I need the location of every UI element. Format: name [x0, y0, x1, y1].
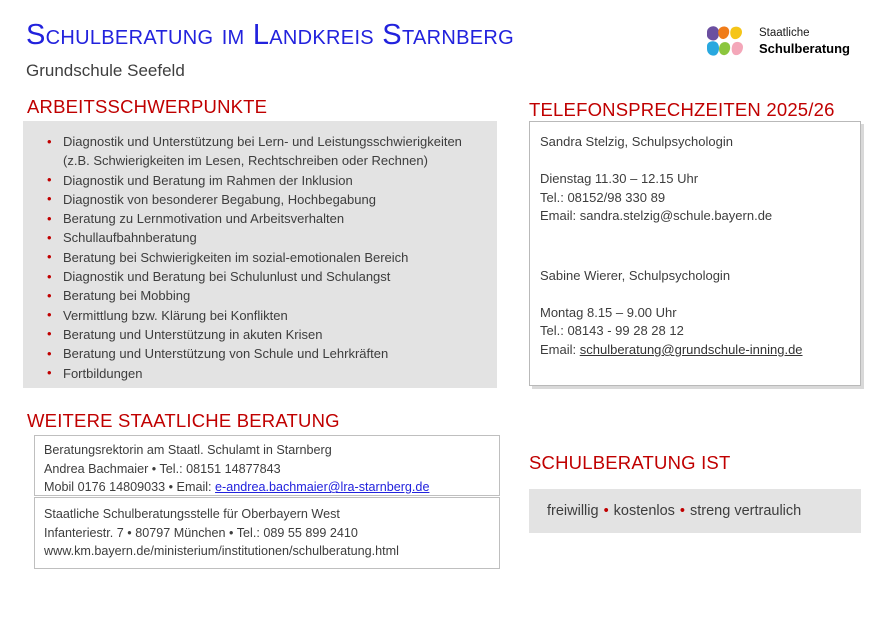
list-item: Beratung und Unterstützung in akuten Kri…: [39, 325, 483, 344]
card-line: Andrea Bachmaier • Tel.: 08151 14877843: [44, 460, 490, 479]
telefonsprechzeiten-panel: Sandra Stelzig, Schulpsychologin Diensta…: [529, 121, 861, 386]
contact-block: Sabine Wierer, Schulpsychologin Montag 8…: [540, 266, 848, 360]
beratungsrektorin-card: Beratungsrektorin am Staatl. Schulamt in…: [34, 435, 500, 496]
section-heading-telefonsprechzeiten: TELEFONSPRECHZEITEN 2025/26: [529, 99, 835, 121]
value-separator-icon: •: [675, 503, 690, 519]
contact-hours: Dienstag 11.30 – 12.15 Uhr: [540, 170, 848, 189]
page-header: Schulberatung im Landkreis Starnberg Gru…: [0, 0, 878, 92]
list-item: Schullaufbahnberatung: [39, 228, 483, 247]
contact-block: Sandra Stelzig, Schulpsychologin Diensta…: [540, 132, 848, 226]
email-label: Email:: [540, 208, 580, 223]
email-link[interactable]: schulberatung@grundschule-inning.de: [580, 342, 803, 357]
list-item: Diagnostik und Unterstützung bei Lern- u…: [39, 132, 483, 171]
email-label: Mobil 0176 14809033 • Email:: [44, 480, 215, 494]
email-value: sandra.stelzig@schule.bayern.de: [580, 208, 772, 223]
list-item: Vermittlung bzw. Klärung bei Konflikten: [39, 306, 483, 325]
contact-name: Sabine Wierer, Schulpsychologin: [540, 266, 848, 286]
value-item: freiwillig: [547, 503, 599, 519]
list-item: Diagnostik von besonderer Begabung, Hoch…: [39, 190, 483, 209]
arbeitsschwerpunkte-list: Diagnostik und Unterstützung bei Lern- u…: [23, 121, 497, 383]
section-heading-weitere-staatliche-beratung: WEITERE STAATLICHE BERATUNG: [27, 410, 340, 432]
value-separator-icon: •: [599, 503, 614, 519]
contact-spacer: [540, 232, 848, 266]
list-item: Beratung zu Lernmotivation und Arbeitsve…: [39, 209, 483, 228]
card-line: Infanteriestr. 7 • 80797 München • Tel.:…: [44, 524, 490, 543]
logo-blobs-icon: [704, 25, 750, 58]
contact-name: Sandra Stelzig, Schulpsychologin: [540, 132, 848, 152]
contact-phone: Tel.: 08143 - 99 28 28 12: [540, 322, 848, 341]
page-title: Schulberatung im Landkreis Starnberg: [26, 18, 514, 52]
email-link[interactable]: e-andrea.bachmaier@lra-starnberg.de: [215, 480, 429, 494]
logo-wordmark: Staatliche Schulberatung: [759, 27, 850, 55]
arbeitsschwerpunkte-panel: Diagnostik und Unterstützung bei Lern- u…: [23, 121, 497, 388]
section-heading-arbeitsschwerpunkte: ARBEITSSCHWERPUNKTE: [27, 96, 267, 118]
card-line: Beratungsrektorin am Staatl. Schulamt in…: [44, 441, 490, 460]
list-item: Beratung bei Schwierigkeiten im sozial-e…: [39, 248, 483, 267]
logo-line-1: Staatliche: [759, 27, 850, 40]
card-line: Staatliche Schulberatungsstelle für Ober…: [44, 505, 490, 524]
contact-phone: Tel.: 08152/98 330 89: [540, 189, 848, 208]
list-item: Diagnostik und Beratung im Rahmen der In…: [39, 171, 483, 190]
staatliche-schulberatung-logo: Staatliche Schulberatung: [704, 25, 850, 58]
section-heading-schulberatung-ist: SCHULBERATUNG IST: [529, 452, 730, 474]
schulberatung-ist-panel: freiwillig•kostenlos•streng vertraulich: [529, 489, 861, 533]
email-label: Email:: [540, 342, 580, 357]
schulberatungsstelle-card: Staatliche Schulberatungsstelle für Ober…: [34, 497, 500, 569]
list-item: Diagnostik und Beratung bei Schulunlust …: [39, 267, 483, 286]
contact-email-row: Email: sandra.stelzig@schule.bayern.de: [540, 207, 848, 226]
card-line: Mobil 0176 14809033 • Email: e-andrea.ba…: [44, 478, 490, 497]
website-url: www.km.bayern.de/ministerium/institution…: [44, 542, 490, 561]
contact-email-row: Email: schulberatung@grundschule-inning.…: [540, 341, 848, 360]
list-item: Fortbildungen: [39, 364, 483, 383]
contact-hours: Montag 8.15 – 9.00 Uhr: [540, 304, 848, 323]
page-subtitle: Grundschule Seefeld: [26, 60, 185, 82]
list-item: Beratung bei Mobbing: [39, 286, 483, 305]
values-row: freiwillig•kostenlos•streng vertraulich: [529, 503, 801, 519]
value-item: streng vertraulich: [690, 503, 801, 519]
value-item: kostenlos: [614, 503, 675, 519]
list-item: Beratung und Unterstützung von Schule un…: [39, 344, 483, 363]
logo-line-2: Schulberatung: [759, 41, 850, 56]
